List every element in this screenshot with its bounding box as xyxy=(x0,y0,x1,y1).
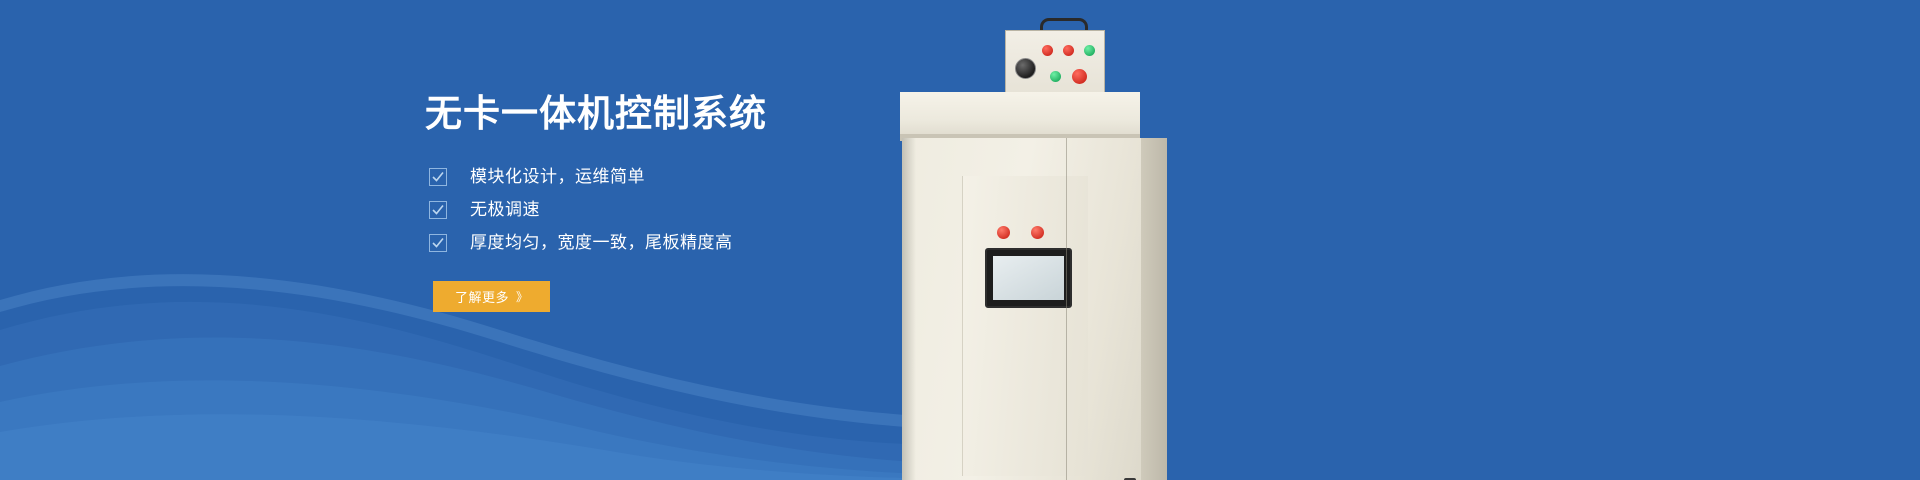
feature-list: 模块化设计，运维简单 无极调速 厚度均匀，宽度一致，尾板精度高 xyxy=(429,160,733,259)
panel-button-green xyxy=(1084,45,1095,56)
hmi-touchscreen xyxy=(985,248,1072,308)
cabinet-body xyxy=(902,138,1167,480)
cabinet-panel-seam xyxy=(1066,138,1067,480)
chevron-right-icon: 》 xyxy=(516,288,528,305)
learn-more-label: 了解更多 xyxy=(455,287,509,306)
hero-banner: 无卡一体机控制系统 模块化设计，运维简单 无极调速 xyxy=(0,0,1920,480)
feature-text: 厚度均匀，宽度一致，尾板精度高 xyxy=(470,234,733,251)
cabinet-door xyxy=(962,176,1088,476)
list-item: 无极调速 xyxy=(429,193,733,226)
list-item: 模块化设计，运维简单 xyxy=(429,160,733,193)
indicator-lamp-red xyxy=(997,226,1010,239)
checkbox-checked-icon xyxy=(429,168,447,186)
panel-button-green xyxy=(1050,71,1061,82)
page-title: 无卡一体机控制系统 xyxy=(425,92,767,136)
checkbox-checked-icon xyxy=(429,234,447,252)
top-control-panel xyxy=(1005,30,1105,93)
control-cabinet-photo xyxy=(880,0,1220,480)
learn-more-button[interactable]: 了解更多 》 xyxy=(433,281,550,312)
cabinet-shading xyxy=(902,138,916,480)
feature-text: 无极调速 xyxy=(470,201,540,218)
list-item: 厚度均匀，宽度一致，尾板精度高 xyxy=(429,226,733,259)
checkbox-checked-icon xyxy=(429,201,447,219)
selector-knob xyxy=(1015,58,1036,79)
feature-text: 模块化设计，运维简单 xyxy=(470,168,645,185)
hmi-screen-surface xyxy=(993,256,1064,300)
indicator-lamp-red xyxy=(1031,226,1044,239)
panel-button-red xyxy=(1072,69,1087,84)
cabinet-top-slab xyxy=(900,92,1140,140)
panel-button-red xyxy=(1063,45,1074,56)
panel-button-red xyxy=(1042,45,1053,56)
